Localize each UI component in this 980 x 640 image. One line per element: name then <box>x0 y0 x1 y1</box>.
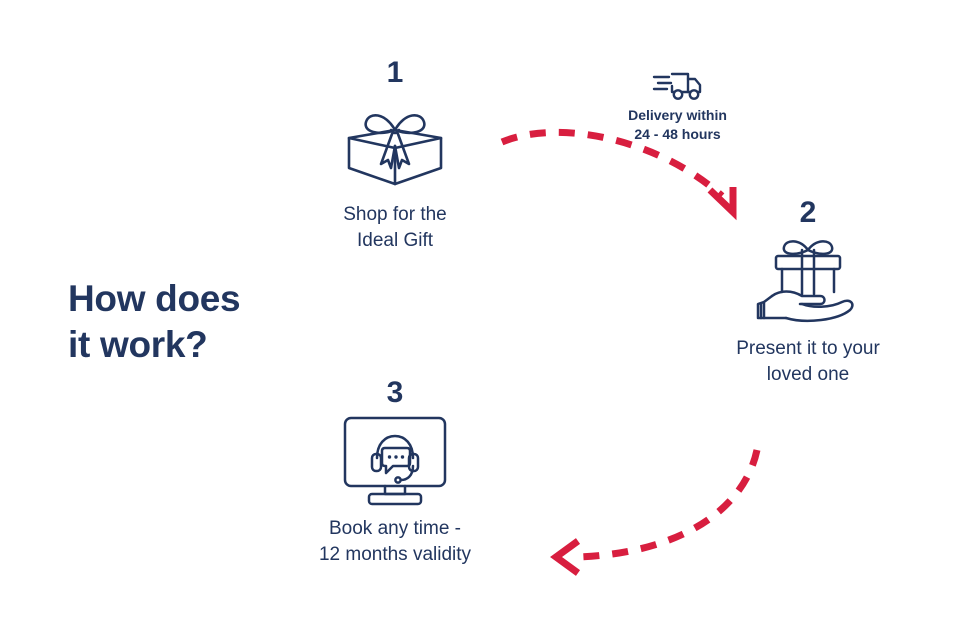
step-2-caption: Present it to your loved one <box>713 336 903 388</box>
step-1: 1 Shop for the Ideal Gift <box>300 58 490 254</box>
page-title-line-2: it work? <box>68 322 368 368</box>
arrow-step2-to-step3 <box>556 450 757 573</box>
page-title-line-1: How does <box>68 276 368 322</box>
infographic-canvas: How does it work? <box>0 0 980 640</box>
arrow-step1-to-step2 <box>502 132 733 212</box>
step-3: 3 <box>300 378 490 568</box>
step-2: 2 <box>713 198 903 388</box>
step-3-caption: Book any time - 12 months validity <box>300 516 490 568</box>
delivery-truck-icon <box>600 70 755 102</box>
monitor-headset-support-icon <box>300 414 490 506</box>
page-title: How does it work? <box>68 276 368 368</box>
step-2-number: 2 <box>713 198 903 228</box>
step-1-caption: Shop for the Ideal Gift <box>300 202 490 254</box>
step-3-number: 3 <box>300 378 490 408</box>
hand-holding-gift-icon <box>713 234 903 326</box>
gift-box-icon <box>300 94 490 192</box>
delivery-note-text: Delivery within 24 - 48 hours <box>600 106 755 144</box>
step-1-number: 1 <box>300 58 490 88</box>
delivery-note: Delivery within 24 - 48 hours <box>600 70 755 144</box>
